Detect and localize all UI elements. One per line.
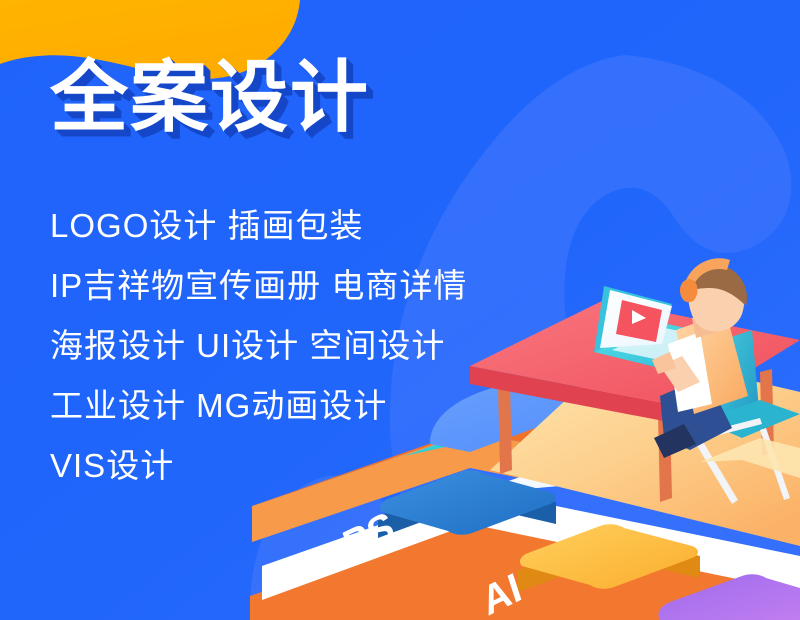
service-line: IP吉祥物宣传画册 电商详情	[50, 256, 580, 316]
service-list: LOGO设计 插画包装 IP吉祥物宣传画册 电商详情 海报设计 UI设计 空间设…	[50, 196, 580, 496]
dome-blob	[250, 475, 395, 620]
person-shoe	[654, 424, 696, 458]
paper-sheet	[700, 438, 800, 478]
chair-leg-front	[690, 430, 738, 504]
app-icon-ae-label: Ae	[611, 615, 671, 620]
app-icon-ae-top	[658, 574, 800, 620]
person-neck	[692, 310, 718, 338]
poster-canvas: 全案设计 LOGO设计 插画包装 IP吉祥物宣传画册 电商详情 海报设计 UI设…	[0, 0, 800, 620]
app-icon-ai-side	[518, 536, 700, 592]
person-torso	[676, 312, 748, 414]
person-hand	[652, 352, 676, 374]
laptop-lid	[594, 286, 672, 352]
person-head	[688, 266, 744, 331]
platform-white-slab	[262, 490, 800, 600]
laptop-keyboard	[612, 327, 726, 364]
person-shirt-white	[668, 332, 712, 412]
chair-seat	[700, 400, 800, 438]
page-title: 全案设计	[50, 58, 370, 136]
desk-leg-mid	[658, 412, 672, 502]
paper-sheet-top	[700, 438, 800, 478]
app-icon-ai-label: AI	[477, 564, 527, 620]
person-arm	[660, 356, 700, 392]
desk-leg-right	[760, 369, 774, 456]
service-line: VIS设计	[50, 436, 580, 496]
chair	[690, 330, 800, 504]
person	[652, 258, 748, 458]
service-line: 工业设计 MG动画设计	[50, 376, 580, 436]
person-legs	[660, 376, 732, 450]
chair-leg-back	[760, 428, 790, 500]
headphone-earcup	[680, 279, 698, 302]
app-icon-ai-top	[520, 524, 698, 588]
laptop-base	[594, 322, 740, 372]
laptop-video-frame	[616, 300, 662, 342]
service-line: 海报设计 UI设计 空间设计	[50, 316, 580, 376]
laptop	[594, 286, 740, 372]
chair-leg-bar	[690, 418, 762, 442]
chair-back	[716, 330, 760, 432]
app-icon-ps-label: PS	[338, 503, 400, 569]
laptop-screen	[600, 290, 672, 348]
platform-orange-lower	[250, 520, 800, 620]
app-icon-ae: Ae	[611, 574, 800, 620]
person-hair	[688, 264, 747, 306]
app-icon-ai: AI	[477, 524, 700, 620]
service-line: LOGO设计 插画包装	[50, 196, 580, 256]
headphone-band	[684, 258, 730, 290]
play-triangle-icon	[632, 310, 646, 324]
